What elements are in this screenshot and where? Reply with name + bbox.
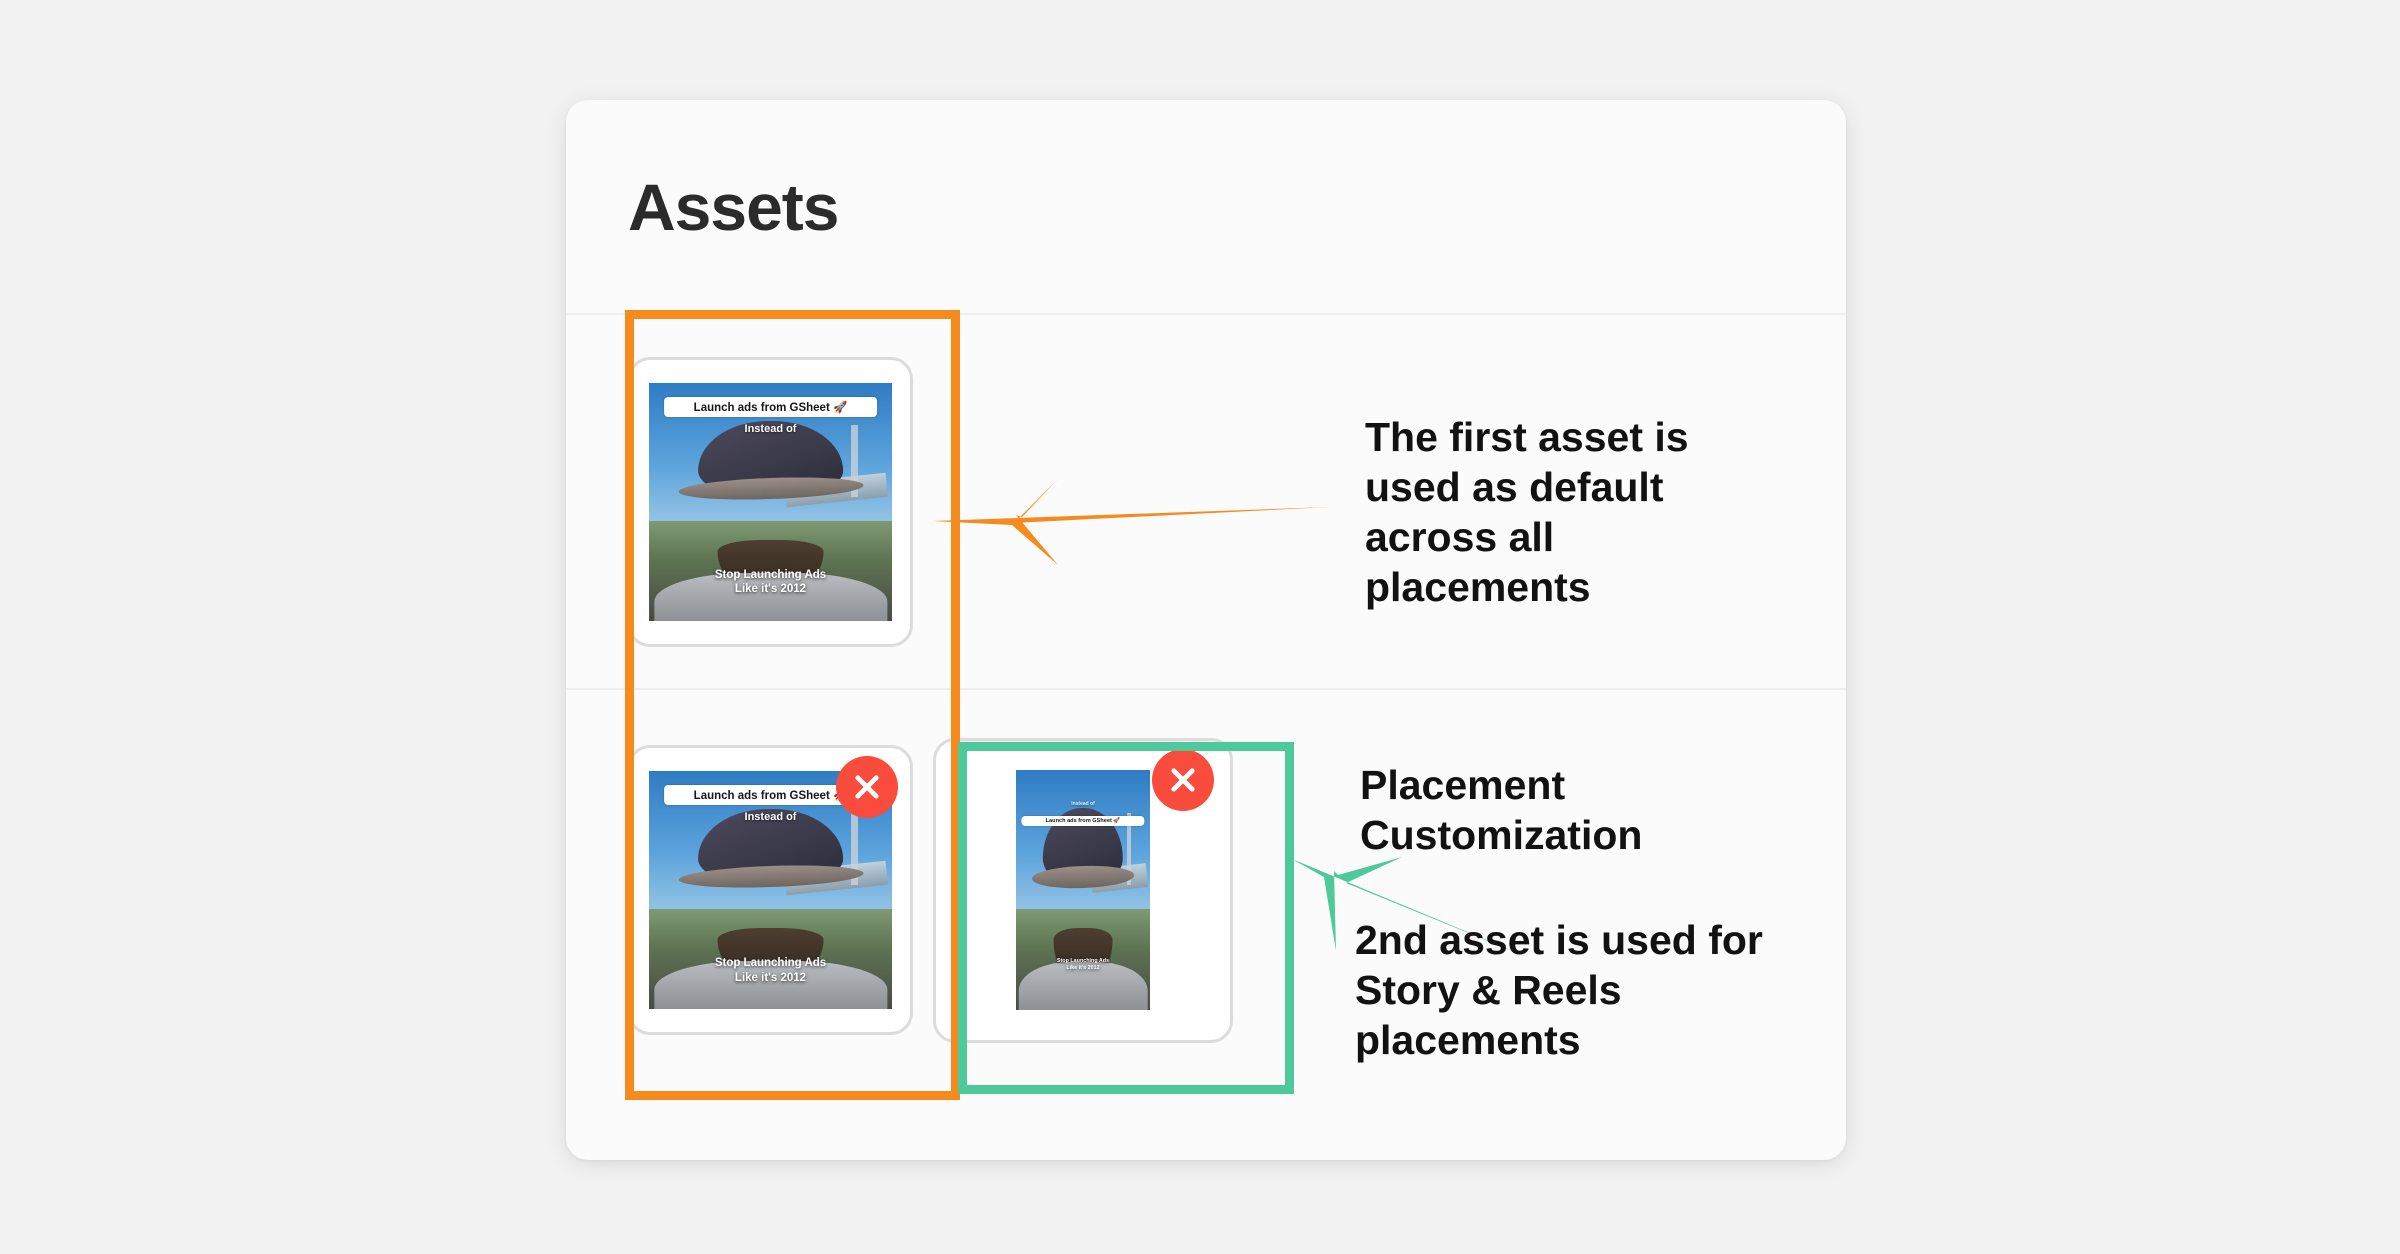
creative-bottom-line-2: Like it's 2012 <box>715 582 826 596</box>
creative-bottom-line-1: Stop Launching Ads <box>1057 958 1109 965</box>
page-title: Assets <box>628 174 838 240</box>
annotation-arrow-orange-icon <box>930 455 1330 575</box>
creative-bottom-line-1: Stop Launching Ads <box>715 568 826 582</box>
annotation-text-story-reels: 2nd asset is used for Story & Reels plac… <box>1355 915 1805 1065</box>
creative-caption: Launch ads from GSheet 🚀 <box>664 397 878 417</box>
asset-thumbnail-3[interactable]: Launch ads from GSheet 🚀 Instead of Stop… <box>933 738 1233 1043</box>
creative-bottom-text: Stop Launching Ads Like it's 2012 <box>1057 958 1109 972</box>
asset-thumbnail-1[interactable]: Launch ads from GSheet 🚀 Instead of Stop… <box>628 357 913 647</box>
assets-card-header: Assets <box>566 100 1846 315</box>
creative-caption: Launch ads from GSheet 🚀 <box>1021 816 1144 826</box>
creative-preview-3: Launch ads from GSheet 🚀 Instead of Stop… <box>1016 770 1150 1010</box>
creative-bottom-text: Stop Launching Ads Like it's 2012 <box>715 956 826 985</box>
annotation-heading-placement-customization: Placement Customization <box>1360 760 1790 860</box>
creative-caption-sub: Instead of <box>745 423 797 435</box>
creative-preview-1: Launch ads from GSheet 🚀 Instead of Stop… <box>649 383 892 621</box>
remove-asset-button[interactable] <box>1152 749 1214 811</box>
asset-thumbnail-2[interactable]: Launch ads from GSheet 🚀 Instead of Stop… <box>628 745 913 1035</box>
creative-bottom-text: Stop Launching Ads Like it's 2012 <box>715 568 826 597</box>
remove-asset-button[interactable] <box>836 756 898 818</box>
annotation-text-default-asset: The first asset is used as default acros… <box>1365 412 1785 612</box>
creative-bottom-line-2: Like it's 2012 <box>715 971 826 985</box>
creative-bottom-line-1: Stop Launching Ads <box>715 956 826 970</box>
creative-caption-sub: Instead of <box>1071 801 1095 807</box>
creative-caption-sub: Instead of <box>745 811 797 823</box>
close-icon <box>1166 763 1200 797</box>
close-icon <box>850 770 884 804</box>
creative-bottom-line-2: Like it's 2012 <box>1057 965 1109 972</box>
